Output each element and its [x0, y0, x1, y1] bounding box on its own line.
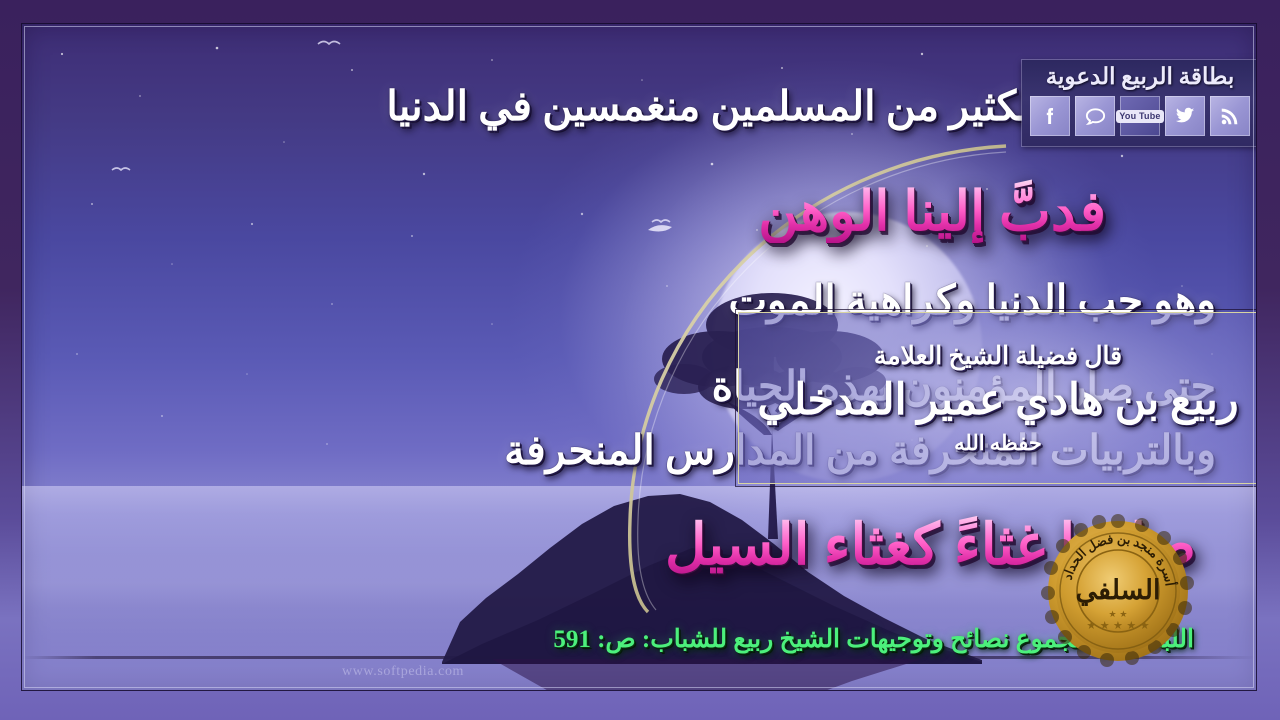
- night-scene: والآن ترى الكثير من المسلمين منغمسين في …: [22, 24, 1256, 690]
- text-line-2-highlight: فدبَّ إلينا الوهن: [758, 179, 1106, 243]
- watermark: www.softpedia.com: [342, 664, 464, 680]
- twitter-icon[interactable]: [1165, 96, 1205, 136]
- brand-header: بطاقة الربيع الدعوية You Tube: [1022, 60, 1256, 146]
- social-icon-row: You Tube: [1026, 94, 1254, 140]
- svg-text:★ ★ ★ ★ ★: ★ ★ ★ ★ ★: [1086, 619, 1149, 632]
- rss-icon[interactable]: [1210, 96, 1250, 136]
- island-reflection: [492, 659, 922, 690]
- facebook-icon[interactable]: [1030, 96, 1070, 136]
- svg-text:السلفي: السلفي: [1076, 575, 1161, 607]
- dawah-card: والآن ترى الكثير من المسلمين منغمسين في …: [0, 0, 1280, 720]
- speaker-panel: قال فضيلة الشيخ العلامة ربيع بن هادي عمي…: [738, 312, 1256, 484]
- youtube-icon[interactable]: You Tube: [1120, 96, 1160, 136]
- svg-text:★ ★: ★ ★: [1109, 610, 1128, 620]
- comment-icon[interactable]: [1075, 96, 1115, 136]
- speaker-intro: قال فضيلة الشيخ العلامة: [874, 341, 1122, 371]
- brand-title: بطاقة الربيع الدعوية: [1046, 60, 1235, 94]
- speaker-dua: حفظه الله: [954, 431, 1042, 456]
- organization-seal: أسرة منجد بن فضل الحداد السلفي ★ ★ ★ ★ ★…: [1038, 511, 1198, 671]
- youtube-label: You Tube: [1116, 110, 1163, 123]
- speaker-name: ربيع بن هادي عمير المدخلي: [757, 375, 1238, 425]
